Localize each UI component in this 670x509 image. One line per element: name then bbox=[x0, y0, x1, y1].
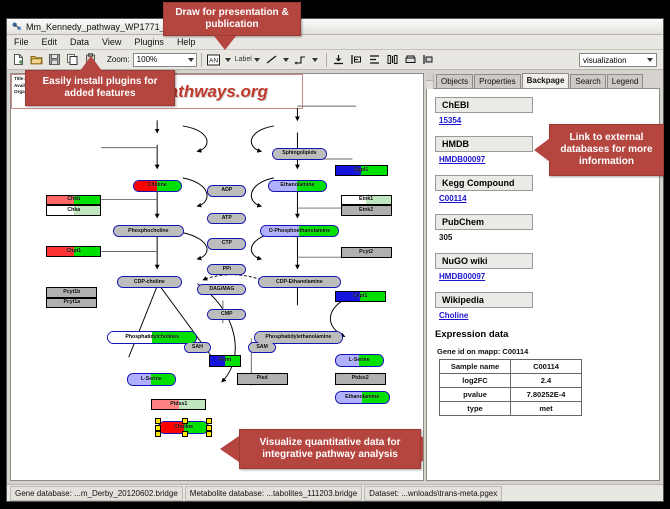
node-label: Choline bbox=[174, 425, 193, 430]
copy-icon[interactable] bbox=[65, 52, 80, 67]
zoom-value: 100% bbox=[137, 55, 157, 64]
label-tool-chevron-icon[interactable] bbox=[254, 58, 260, 62]
exp-val-sample-name: C00114 bbox=[511, 360, 582, 374]
exp-key-log2fc: log2FC bbox=[440, 374, 511, 388]
callout-visualize-arrow-right bbox=[421, 436, 424, 462]
tab-backpage[interactable]: Backpage bbox=[522, 73, 570, 88]
node-label: Sgpl1 bbox=[354, 168, 368, 173]
table-row: pvalue 7.80252E-4 bbox=[440, 388, 582, 402]
node-phosphatidylethanolamine[interactable]: Phosphatidylethanolamine bbox=[254, 331, 342, 344]
node-sah[interactable]: SAH bbox=[184, 342, 211, 353]
node-label: SAH bbox=[192, 345, 203, 350]
status-bar: Gene database: ...m_Derby_20120602.bridg… bbox=[7, 484, 663, 501]
node-label: Pcyt1b bbox=[63, 290, 80, 295]
tab-objects[interactable]: Objects bbox=[436, 74, 473, 88]
db-link-kegg[interactable]: C00114 bbox=[439, 194, 651, 203]
node-pcyt2[interactable]: Pcyt2 bbox=[341, 247, 392, 258]
node-atp[interactable]: ATP bbox=[207, 213, 246, 224]
label-tool-label[interactable]: Label bbox=[235, 56, 252, 63]
side-panel-tabs: Objects Properties Backpage Search Legen… bbox=[426, 73, 660, 89]
line-tool-icon[interactable] bbox=[264, 52, 279, 67]
table-row: log2FC 2.4 bbox=[440, 374, 582, 388]
node-label: Phosphatidylethanolamine bbox=[265, 335, 331, 340]
chevron-down-icon bbox=[188, 58, 194, 62]
node-label: SAM bbox=[256, 345, 268, 350]
exp-key-type: type bbox=[440, 402, 511, 416]
node-label: Chkb bbox=[67, 197, 80, 202]
callout-plugins-arrow bbox=[80, 56, 102, 71]
table-row: type met bbox=[440, 402, 582, 416]
node-label: Chpt1 bbox=[66, 249, 81, 254]
menu-edit[interactable]: Edit bbox=[40, 37, 60, 47]
new-file-icon[interactable] bbox=[11, 52, 26, 67]
status-dataset: Dataset: ...wnloads\trans-meta.pgex bbox=[364, 486, 502, 501]
tab-properties[interactable]: Properties bbox=[474, 74, 520, 88]
align-rows-icon[interactable] bbox=[367, 52, 382, 67]
node-label: Sphingolipids bbox=[282, 151, 316, 156]
node-ethanolamine-top[interactable]: Ethanolamine bbox=[268, 180, 327, 192]
node-label: L-Serine bbox=[141, 377, 162, 382]
db-header-wikipedia: Wikipedia bbox=[435, 292, 533, 308]
exp-key-pvalue: pvalue bbox=[440, 388, 511, 402]
status-gene-database: Gene database: ...m_Derby_20120602.bridg… bbox=[10, 486, 183, 501]
node-label: CDP-Ethanolamine bbox=[276, 280, 323, 285]
node-pcyt1a[interactable]: Pcyt1a bbox=[46, 298, 97, 308]
pathway-nodes: SphingolipidsCholineEthanolamineADPATPPh… bbox=[11, 74, 423, 480]
node-pisd[interactable]: Pisd bbox=[237, 373, 288, 384]
node-label: Chka bbox=[67, 208, 80, 213]
pathvisio-app-icon bbox=[11, 21, 22, 32]
title-bar: Mm_Kennedy_pathway_WP1771_45176.gpml bbox=[7, 19, 663, 35]
callout-draw: Draw for presentation & publication bbox=[163, 2, 301, 36]
connector-tool-chevron-icon[interactable] bbox=[312, 58, 318, 62]
node-label: CMP bbox=[221, 312, 233, 317]
node-label: PPi bbox=[223, 267, 231, 272]
node-label: Pcyt2 bbox=[359, 250, 373, 255]
node-label: Pcyt1a bbox=[63, 300, 80, 305]
menu-bar: File Edit Data View Plugins Help bbox=[7, 35, 663, 50]
callout-link-arrow bbox=[534, 138, 550, 162]
pathway-canvas[interactable]: Title: Availa Organi bbox=[10, 73, 424, 481]
node-label: Pisd bbox=[257, 376, 268, 381]
node-label: Phosphocholine bbox=[128, 229, 168, 234]
menu-view[interactable]: View bbox=[100, 37, 123, 47]
visualization-combo[interactable]: visualization bbox=[579, 53, 657, 67]
node-ptdss2[interactable]: Ptdss2 bbox=[335, 373, 386, 384]
node-pcyt1b[interactable]: Pcyt1b bbox=[46, 287, 97, 297]
node-chpt1[interactable]: Chpt1 bbox=[46, 246, 101, 257]
node-phosphocholine[interactable]: Phosphocholine bbox=[113, 225, 184, 237]
node-cdp-choline[interactable]: CDP-choline bbox=[117, 276, 182, 288]
db-header-kegg: Kegg Compound bbox=[435, 175, 533, 191]
node-label: CTP bbox=[222, 241, 232, 246]
node-label: Etnk2 bbox=[359, 208, 373, 213]
selection-handle[interactable] bbox=[206, 431, 212, 437]
order-icon[interactable] bbox=[421, 52, 436, 67]
connector-tool-icon[interactable] bbox=[293, 52, 308, 67]
save-icon[interactable] bbox=[47, 52, 62, 67]
selection-handle[interactable] bbox=[155, 418, 161, 424]
callout-link: Link to external databases for more info… bbox=[549, 124, 664, 176]
node-ptdss1[interactable]: Ptdss1 bbox=[151, 399, 206, 410]
group-icon[interactable] bbox=[403, 52, 418, 67]
callout-draw-arrow bbox=[214, 36, 236, 50]
align-left-icon[interactable] bbox=[349, 52, 364, 67]
node-cept1[interactable]: Cept1 bbox=[335, 291, 386, 302]
node-label: CDP-choline bbox=[134, 280, 165, 285]
node-label: Choline bbox=[148, 183, 167, 188]
node-o-phosphoethanolamine[interactable]: O-Phosphoethanolamine bbox=[260, 225, 338, 237]
node-ethanolamine-right[interactable]: Ethanolamine bbox=[335, 391, 390, 403]
visualization-value: visualization bbox=[583, 56, 627, 65]
exp-val-pvalue: 7.80252E-4 bbox=[511, 388, 582, 402]
db-header-nugowiki: NuGO wiki bbox=[435, 253, 533, 269]
node-label: Ptdss2 bbox=[352, 376, 369, 381]
selection-handle[interactable] bbox=[206, 418, 212, 424]
node-label: DAG/MAG bbox=[209, 287, 234, 292]
node-phosphatidylcholines[interactable]: Phosphatidylcholines bbox=[107, 331, 197, 344]
db-header-pubchem: PubChem bbox=[435, 214, 533, 230]
menu-file[interactable]: File bbox=[12, 37, 31, 47]
selection-handle[interactable] bbox=[155, 431, 161, 437]
node-label: Etnk1 bbox=[359, 197, 373, 202]
node-choline-top[interactable]: Choline bbox=[133, 180, 182, 192]
tab-search[interactable]: Search bbox=[570, 74, 605, 88]
expression-data-heading: Expression data bbox=[435, 329, 651, 340]
tab-legend[interactable]: Legend bbox=[607, 74, 644, 88]
menu-plugins[interactable]: Plugins bbox=[132, 37, 166, 47]
exp-val-type: met bbox=[511, 402, 582, 416]
node-label: Cept1 bbox=[353, 294, 367, 299]
node-ctp[interactable]: CTP bbox=[207, 238, 246, 249]
node-label: Pemt bbox=[218, 358, 231, 363]
node-label: Ethanolamine bbox=[345, 395, 379, 400]
node-chka[interactable]: Chka bbox=[46, 205, 101, 215]
db-value-pubchem: 305 bbox=[439, 233, 651, 242]
db-link-nugowiki[interactable]: HMDB00097 bbox=[439, 272, 651, 281]
node-pemt[interactable]: Pemt bbox=[209, 355, 240, 366]
toolbar-separator-2 bbox=[326, 53, 327, 67]
svg-text:AN: AN bbox=[209, 57, 218, 64]
node-sam[interactable]: SAM bbox=[248, 342, 275, 353]
node-sphingolipids[interactable]: Sphingolipids bbox=[272, 148, 327, 160]
zoom-label: Zoom: bbox=[107, 55, 130, 64]
toolbar-separator bbox=[201, 53, 202, 67]
node-sgpl1[interactable]: Sgpl1 bbox=[335, 165, 388, 176]
node-dagmag[interactable]: DAG/MAG bbox=[197, 284, 246, 295]
open-folder-icon[interactable] bbox=[29, 52, 44, 67]
node-label: ATP bbox=[222, 216, 232, 221]
selection-handle[interactable] bbox=[182, 418, 188, 424]
node-ppi[interactable]: PPi bbox=[207, 264, 246, 275]
node-chkb[interactable]: Chkb bbox=[46, 195, 101, 205]
exp-val-log2fc: 2.4 bbox=[511, 374, 582, 388]
node-adp[interactable]: ADP bbox=[207, 185, 246, 196]
selection-handle[interactable] bbox=[182, 431, 188, 437]
toolbar: Zoom: 100% AN Label bbox=[7, 50, 663, 70]
node-label: Ethanolamine bbox=[280, 183, 314, 188]
node-cdp-ethanolamine[interactable]: CDP-Ethanolamine bbox=[258, 276, 340, 288]
node-etnk1[interactable]: Etnk1 bbox=[341, 195, 392, 205]
status-metabolite-database: Metabolite database: ...tabolites_111203… bbox=[185, 486, 362, 501]
node-label: ADP bbox=[221, 188, 232, 193]
expression-table: Sample name C00114 log2FC 2.4 pvalue 7.8… bbox=[439, 359, 582, 416]
menu-help[interactable]: Help bbox=[175, 37, 198, 47]
node-etnk2[interactable]: Etnk2 bbox=[341, 205, 392, 215]
exp-key-sample-name: Sample name bbox=[440, 360, 511, 374]
node-l-serine-left[interactable]: L-Serine bbox=[127, 373, 176, 385]
gene-id-line: Gene id on mapp: C00114 bbox=[437, 347, 651, 356]
node-label: Phosphatidylcholines bbox=[125, 335, 179, 340]
node-cmp[interactable]: CMP bbox=[207, 309, 246, 320]
callout-visualize-arrow-left bbox=[220, 436, 239, 462]
datanode-tool-icon[interactable]: AN bbox=[206, 52, 221, 67]
callout-visualize: Visualize quantitative data for integrat… bbox=[239, 429, 421, 469]
db-header-chebi: ChEBI bbox=[435, 97, 533, 113]
datanode-tool-chevron-icon[interactable] bbox=[225, 58, 231, 62]
scroll-up-button[interactable] bbox=[426, 73, 433, 81]
db-link-wikipedia[interactable]: Choline bbox=[439, 311, 651, 320]
line-tool-chevron-icon[interactable] bbox=[283, 58, 289, 62]
callout-plugins: Easily install plugins for added feature… bbox=[25, 70, 175, 106]
distribute-icon[interactable] bbox=[385, 52, 400, 67]
table-row: Sample name C00114 bbox=[440, 360, 582, 374]
menu-data[interactable]: Data bbox=[68, 37, 91, 47]
node-l-serine-right[interactable]: L-Serine bbox=[335, 354, 384, 366]
zoom-combo[interactable]: 100% bbox=[133, 53, 197, 67]
db-header-hmdb: HMDB bbox=[435, 136, 533, 152]
node-label: Ptdss1 bbox=[170, 402, 187, 407]
align-top-icon[interactable] bbox=[331, 52, 346, 67]
node-label: L-Serine bbox=[349, 358, 370, 363]
node-label: O-Phosphoethanolamine bbox=[269, 229, 330, 234]
chevron-down-icon bbox=[647, 58, 653, 62]
